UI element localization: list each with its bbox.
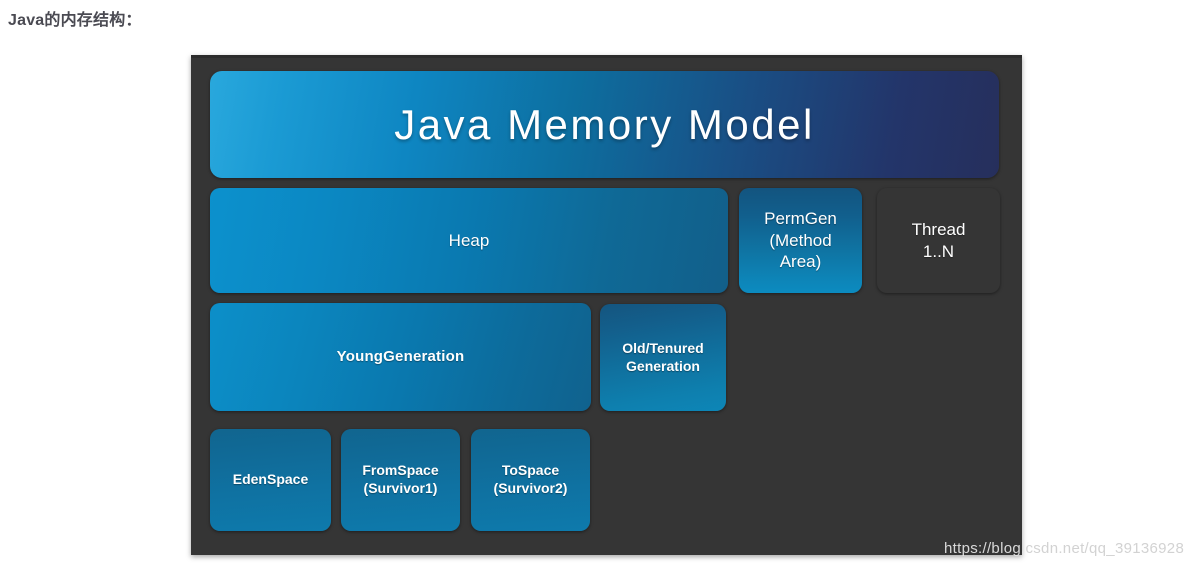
permgen-label: PermGen (Method Area) xyxy=(764,208,837,273)
young-generation-block: YoungGeneration xyxy=(210,303,591,411)
eden-space-block: EdenSpace xyxy=(210,429,331,531)
old-tenured-generation-block: Old/Tenured Generation xyxy=(600,304,726,411)
to-space-block: ToSpace (Survivor2) xyxy=(471,429,590,531)
java-memory-model-diagram: Java Memory Model Heap PermGen (Method A… xyxy=(191,55,1022,555)
from-space-label: FromSpace (Survivor1) xyxy=(362,462,438,498)
young-generation-label: YoungGeneration xyxy=(337,347,465,366)
eden-space-label: EdenSpace xyxy=(233,471,308,489)
thread-block: Thread 1..N xyxy=(877,188,1000,293)
diagram-title-label: Java Memory Model xyxy=(394,98,815,152)
to-space-label: ToSpace (Survivor2) xyxy=(494,462,568,498)
heap-label: Heap xyxy=(449,230,490,252)
thread-label: Thread 1..N xyxy=(912,219,966,263)
old-tenured-generation-label: Old/Tenured Generation xyxy=(622,340,703,376)
permgen-block: PermGen (Method Area) xyxy=(739,188,862,293)
heap-block: Heap xyxy=(210,188,728,293)
from-space-block: FromSpace (Survivor1) xyxy=(341,429,460,531)
watermark-suffix: csdn.net/qq_39136928 xyxy=(1025,540,1184,557)
diagram-title-block: Java Memory Model xyxy=(210,71,999,178)
watermark: https://blog.csdn.net/qq_39136928 xyxy=(944,540,1184,557)
watermark-prefix: https://blog. xyxy=(944,540,1025,557)
page-title: Java的内存结构： xyxy=(8,6,142,30)
